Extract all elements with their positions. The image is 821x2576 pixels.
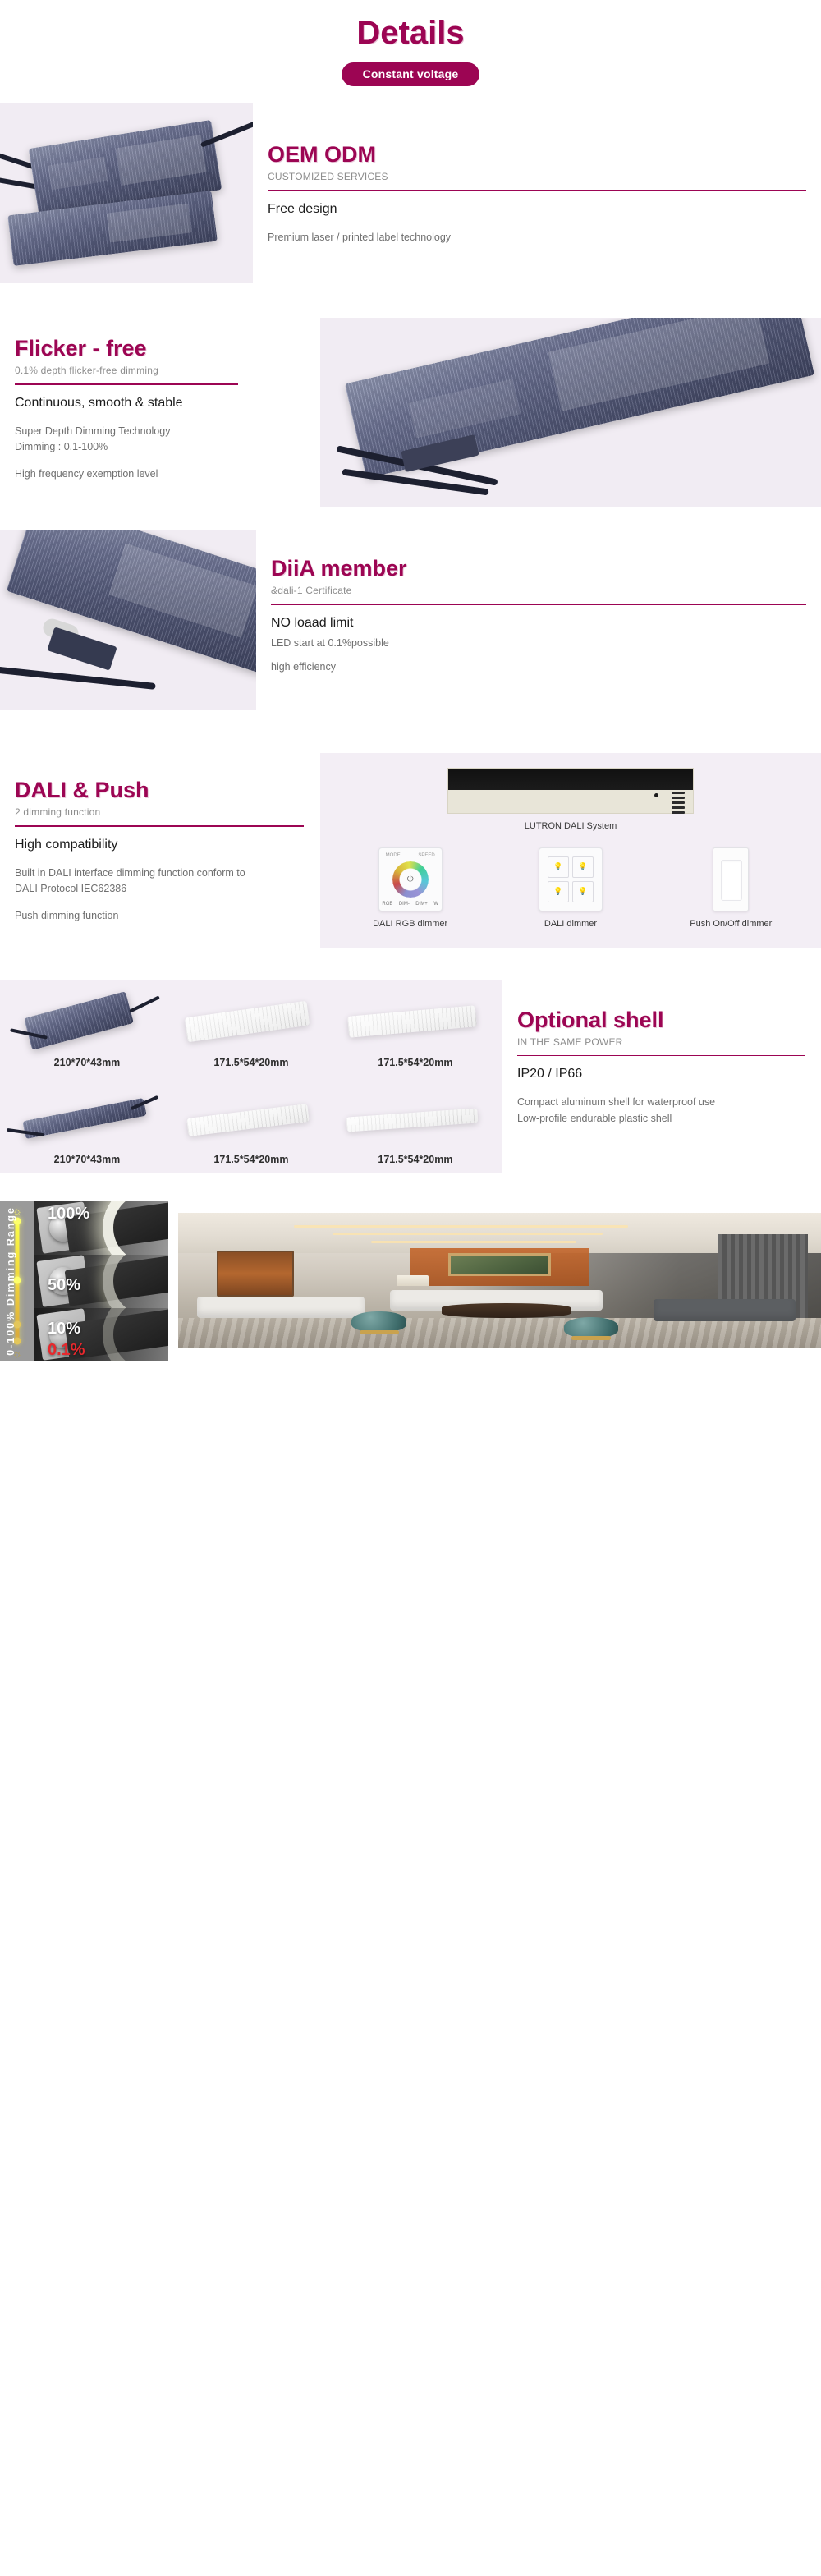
shell-subtitle: IN THE SAME POWER — [517, 1036, 806, 1048]
rgb-mode-label: MODE — [386, 853, 401, 858]
lutron-button[interactable] — [672, 797, 685, 799]
shell-dimension: 171.5*54*20mm — [169, 1154, 333, 1165]
device-push-onoff-dimmer[interactable]: Push On/Off dimmer — [686, 847, 775, 930]
diia-lead: NO loaad limit — [271, 616, 806, 631]
dali-body-1: Push dimming function — [15, 908, 305, 924]
lutron-button-group[interactable] — [672, 792, 685, 816]
diia-body-1: high efficiency — [271, 659, 806, 675]
rocker-icon[interactable] — [721, 860, 742, 901]
coffee-table — [442, 1303, 571, 1318]
section-optional-shell: 210*70*43mm 171.5*54*20mm 171.5*54*20mm — [0, 980, 821, 1173]
shell-divider — [517, 1055, 805, 1057]
section-diia-member: DiiA member &dali-1 Certificate NO loaad… — [0, 530, 821, 710]
shell-lead: IP20 / IP66 — [517, 1067, 806, 1081]
flicker-divider — [15, 383, 238, 385]
cove-light — [294, 1225, 628, 1228]
dimming-shot-50: 50% — [34, 1255, 168, 1308]
lutron-button[interactable] — [672, 806, 685, 809]
page-title: Details — [0, 15, 821, 51]
lutron-screen — [448, 769, 693, 790]
shell-title: Optional shell — [517, 1008, 806, 1033]
shell-photo-metal — [5, 993, 169, 1054]
dimming-showcase: ☼ ☼ 0-100% Dimming Range 100% — [0, 1201, 821, 1361]
shell-photo-metal — [5, 1090, 169, 1150]
shell-photo-white — [169, 1090, 333, 1150]
lutron-button[interactable] — [672, 811, 685, 814]
shell-dimension: 171.5*54*20mm — [169, 1057, 333, 1068]
lutron-dali-system-device — [447, 768, 694, 814]
bookshelf — [217, 1251, 294, 1297]
lutron-indicator-icon — [654, 793, 658, 797]
flicker-copy: Flicker - free 0.1% depth flicker-free d… — [0, 318, 320, 507]
shell-dimension: 210*70*43mm — [5, 1154, 169, 1165]
room-scene — [178, 1213, 821, 1348]
rgb-speed-label: SPEED — [418, 853, 434, 858]
section-flicker-free: Flicker - free 0.1% depth flicker-free d… — [0, 318, 821, 507]
power-icon[interactable]: ⏻ — [407, 875, 414, 884]
dali-subtitle: 2 dimming function — [15, 806, 305, 818]
shell-item[interactable]: 210*70*43mm — [5, 993, 169, 1068]
channel-button[interactable]: 💡 — [548, 856, 569, 878]
oem-body-0: Premium laser / printed label technology — [268, 230, 514, 246]
dimming-min-label: 0.1% — [48, 1341, 85, 1360]
dali-body-0: Built in DALI interface dimming function… — [15, 866, 261, 898]
rgb-btn-label: W — [433, 902, 438, 907]
dimming-shot-100: 100% — [34, 1201, 168, 1255]
led-strip-glow — [103, 1255, 168, 1308]
sofa-right — [654, 1299, 795, 1320]
flicker-subtitle: 0.1% depth flicker-free dimming — [15, 365, 305, 376]
application-room-photo — [168, 1201, 821, 1361]
led-strip-glow — [103, 1201, 168, 1255]
oem-title: OEM ODM — [268, 142, 806, 168]
pouf-right — [564, 1317, 619, 1338]
dimming-range-block: ☼ ☼ 0-100% Dimming Range 100% — [0, 1201, 168, 1361]
shell-item[interactable]: 210*70*43mm — [5, 1090, 169, 1165]
flicker-product-photo — [320, 318, 821, 507]
floor — [178, 1318, 821, 1348]
oem-copy: OEM ODM CUSTOMIZED SERVICES Free design … — [253, 103, 821, 283]
shell-item[interactable]: 171.5*54*20mm — [333, 1090, 498, 1165]
wall-art — [448, 1253, 551, 1276]
rgb-btn-label: DIM- — [399, 902, 410, 907]
shell-item[interactable]: 171.5*54*20mm — [333, 993, 498, 1068]
flicker-body-0: Super Depth Dimming Technology Dimming :… — [15, 424, 305, 456]
diia-title: DiiA member — [271, 556, 806, 581]
product-detail-page: Details Constant voltage OEM ODM CU — [0, 0, 821, 1361]
shell-dimension: 171.5*54*20mm — [333, 1154, 498, 1165]
diia-body-0: LED start at 0.1%possible — [271, 636, 806, 651]
dimming-step-label: 50% — [48, 1276, 80, 1295]
flicker-body-1: High frequency exemption level — [15, 466, 305, 482]
dali-lead: High compatibility — [15, 838, 305, 852]
shell-item[interactable]: 171.5*54*20mm — [169, 1090, 333, 1165]
dali-copy: DALI & Push 2 dimming function High comp… — [0, 753, 320, 948]
device-dali-rgb-dimmer[interactable]: MODE SPEED ⏻ RGB DIM- DIM+ W — [366, 847, 455, 930]
oem-product-photo — [0, 103, 253, 283]
channel-button[interactable]: 💡 — [548, 881, 569, 902]
dali-divider — [15, 825, 304, 827]
shell-photo-white — [169, 993, 333, 1054]
dali-dimmer-panel-icon[interactable]: 💡 💡 💡 💡 — [539, 847, 603, 911]
device-caption: DALI RGB dimmer — [366, 918, 455, 930]
device-dali-dimmer[interactable]: 💡 💡 💡 💡 DALI dimmer — [526, 847, 615, 930]
lutron-button[interactable] — [672, 792, 685, 794]
badge-wrap: Constant voltage — [0, 62, 821, 86]
flicker-title: Flicker - free — [15, 336, 305, 361]
table-lamp — [397, 1275, 429, 1286]
shell-variant-grid: 210*70*43mm 171.5*54*20mm 171.5*54*20mm — [0, 980, 502, 1173]
dimming-range-rail[interactable]: ☼ ☼ 0-100% Dimming Range — [0, 1201, 34, 1361]
shell-dimension: 171.5*54*20mm — [333, 1057, 498, 1068]
rgb-dimmer-panel-icon[interactable]: MODE SPEED ⏻ RGB DIM- DIM+ W — [378, 847, 443, 911]
cove-light — [371, 1241, 577, 1243]
channel-button[interactable]: 💡 — [572, 881, 594, 902]
dimming-shots: 100% 50% 10% 0.1% — [34, 1201, 168, 1361]
section-dali-push: DALI & Push 2 dimming function High comp… — [0, 753, 821, 948]
rgb-btn-label: RGB — [382, 902, 392, 907]
shell-row: 210*70*43mm 171.5*54*20mm 171.5*54*20mm — [5, 993, 498, 1068]
dimming-step-label: 10% — [48, 1320, 80, 1339]
dimming-shot-10: 10% 0.1% — [34, 1308, 168, 1361]
diia-divider — [271, 604, 806, 605]
shell-row: 210*70*43mm 171.5*54*20mm 171.5*54*20mm — [5, 1090, 498, 1165]
pouf-left — [351, 1311, 406, 1332]
dali-devices-panel: LUTRON DALI System MODE SPEED ⏻ RGB — [320, 753, 821, 948]
device-caption: DALI dimmer — [526, 918, 615, 930]
shell-item[interactable]: 171.5*54*20mm — [169, 993, 333, 1068]
push-switch-icon[interactable] — [713, 847, 749, 911]
flicker-lead: Continuous, smooth & stable — [15, 396, 305, 411]
dali-title: DALI & Push — [15, 778, 305, 803]
lutron-caption: LUTRON DALI System — [320, 820, 821, 833]
status-badge: Constant voltage — [342, 62, 480, 86]
shell-body-0: Compact aluminum shell for waterproof us… — [517, 1095, 806, 1127]
diia-subtitle: &dali-1 Certificate — [271, 585, 806, 596]
channel-button[interactable]: 💡 — [572, 856, 594, 878]
shell-photo-white — [333, 1090, 498, 1150]
rgb-btn-label: DIM+ — [415, 902, 428, 907]
diia-copy: DiiA member &dali-1 Certificate NO loaad… — [256, 530, 821, 710]
oem-divider — [268, 190, 806, 191]
dali-device-row: MODE SPEED ⏻ RGB DIM- DIM+ W — [320, 847, 821, 930]
section-oem-odm: OEM ODM CUSTOMIZED SERVICES Free design … — [0, 103, 821, 283]
cove-light — [333, 1233, 603, 1235]
page-header: Details Constant voltage — [0, 0, 821, 103]
led-strip-glow — [103, 1308, 168, 1361]
oem-lead: Free design — [268, 202, 806, 217]
lutron-button[interactable] — [672, 801, 685, 804]
rail-label: 0-100% Dimming Range — [5, 1206, 16, 1356]
shell-dimension: 210*70*43mm — [5, 1057, 169, 1068]
shell-copy: Optional shell IN THE SAME POWER IP20 / … — [502, 980, 821, 1173]
shell-photo-white — [333, 993, 498, 1054]
diia-product-photo — [0, 530, 256, 710]
device-caption: Push On/Off dimmer — [686, 918, 775, 930]
oem-subtitle: CUSTOMIZED SERVICES — [268, 171, 806, 182]
dimming-step-label: 100% — [48, 1205, 89, 1224]
sofa-left — [197, 1297, 365, 1318]
